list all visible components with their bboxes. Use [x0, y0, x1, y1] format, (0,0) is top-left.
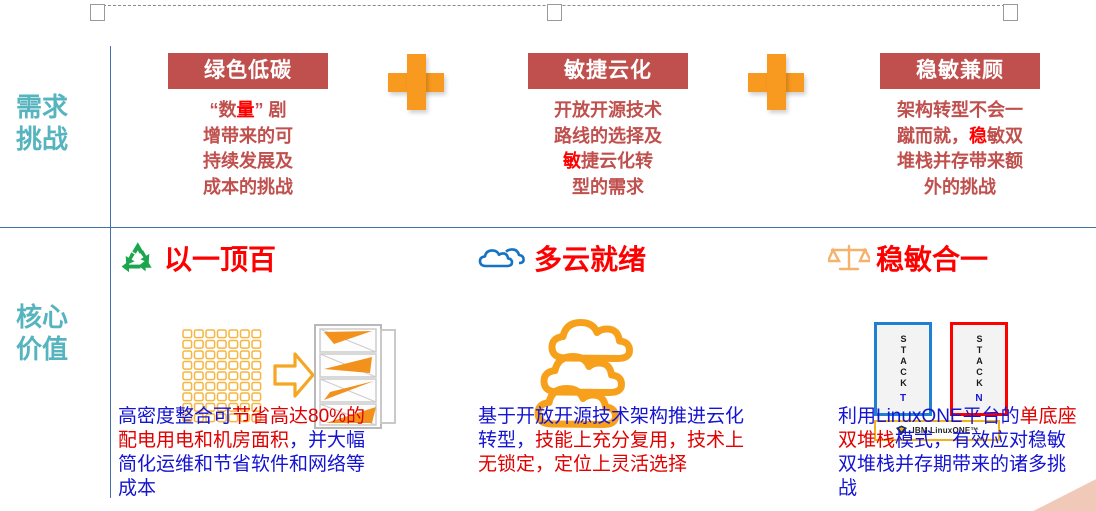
stack-box-new-tag: N: [975, 393, 982, 404]
stack-box-traditional: STACK T: [874, 322, 932, 416]
selection-handle-left[interactable]: [90, 4, 105, 21]
challenge-card-3-body: 架构转型不会一蹴而就，稳敏双堆栈并存带来额外的挑战: [880, 98, 1040, 200]
decorative-corner-band: [896, 421, 1096, 511]
selection-bounding-box[interactable]: [98, 5, 1010, 7]
horizontal-divider: [0, 227, 1096, 228]
stack-box-traditional-label: STACK: [899, 334, 908, 389]
value-card-3-header: 稳敏合一: [828, 240, 1096, 280]
balance-scale-icon: [828, 241, 870, 280]
plus-icon-2: [748, 54, 804, 110]
row-label-challenges-text: 需求挑战: [12, 92, 72, 155]
row-label-core-value: 核心价值: [12, 302, 72, 365]
value-card-2-text: 基于开放开源技术架构推进云化转型，技能上充分复用，技术上无锁定，定位上灵活选择: [478, 405, 748, 477]
stack-box-new-label: STACK: [975, 334, 984, 389]
challenge-card-1-body: “数量” 剧增带来的可持续发展及成本的挑战: [168, 98, 328, 200]
cloud-icon: [478, 243, 528, 278]
stack-box-traditional-tag: T: [900, 393, 906, 404]
row-label-core-value-text: 核心价值: [12, 302, 72, 365]
challenge-card-1-banner: 绿色低碳: [168, 53, 328, 89]
vertical-divider: [110, 46, 111, 498]
value-card-1-title: 以一顶百: [164, 246, 276, 274]
challenge-card-3-banner: 稳敏兼顾: [880, 53, 1040, 89]
value-card-1-header: 以一顶百: [118, 240, 448, 280]
challenge-card-2[interactable]: 敏捷云化 开放开源技术路线的选择及敏捷云化转型的需求: [528, 53, 688, 200]
challenge-card-2-banner: 敏捷云化: [528, 53, 688, 89]
challenge-card-2-body: 开放开源技术路线的选择及敏捷云化转型的需求: [528, 98, 688, 200]
value-card-1-text: 高密度整合可节省高达80%的配电用电和机房面积，并大幅简化运维和节省软件和网络等…: [118, 405, 368, 501]
challenge-card-1[interactable]: 绿色低碳 “数量” 剧增带来的可持续发展及成本的挑战: [168, 53, 328, 200]
slide-canvas: 需求挑战 核心价值 绿色低碳 “数量” 剧增带来的可持续发展及成本的挑战 敏捷云…: [0, 0, 1096, 511]
value-card-2-header: 多云就绪: [478, 240, 808, 280]
consolidation-arrow-icon: [273, 352, 315, 398]
selection-handle-center[interactable]: [547, 4, 562, 21]
value-card-2-title: 多云就绪: [534, 246, 646, 274]
row-label-challenges: 需求挑战: [12, 92, 72, 155]
plus-icon-1: [388, 54, 444, 110]
recycle-icon: [118, 240, 158, 281]
stack-box-new: STACK N: [950, 322, 1008, 416]
value-card-2[interactable]: 多云就绪: [478, 240, 808, 430]
value-card-3[interactable]: 稳敏合一 STACK T STACK N: [828, 240, 1096, 430]
value-card-3-title: 稳敏合一: [876, 246, 988, 274]
challenge-card-3[interactable]: 稳敏兼顾 架构转型不会一蹴而就，稳敏双堆栈并存带来额外的挑战: [880, 53, 1040, 200]
value-card-1[interactable]: 以一顶百: [118, 240, 448, 430]
selection-handle-right[interactable]: [1003, 4, 1018, 21]
